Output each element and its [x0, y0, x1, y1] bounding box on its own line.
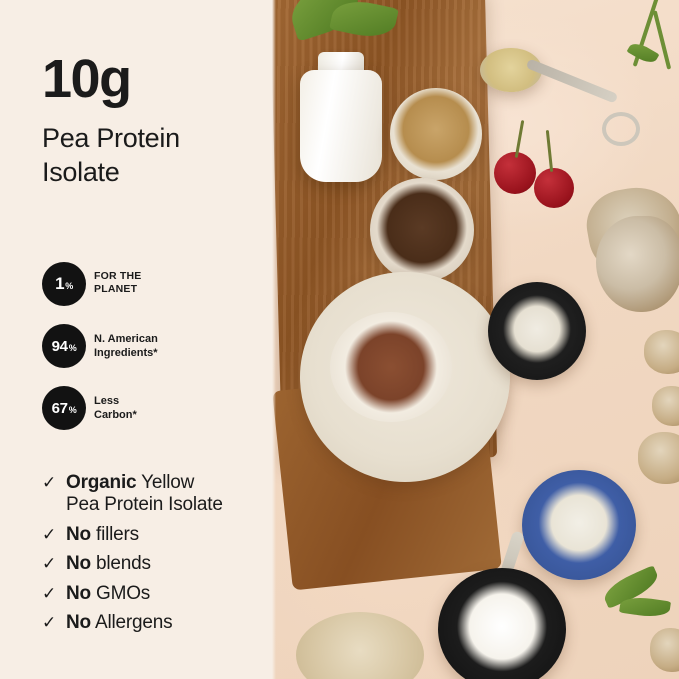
badge-north-american-ingredients: 94% N. American Ingredients*: [42, 324, 268, 378]
checklist-item-no-allergens: ✓ No Allergens: [42, 612, 274, 634]
badge-label-1-line1: FOR THE: [94, 270, 141, 282]
product-title: Pea Protein Isolate: [42, 122, 272, 190]
badge-label-2-line1: N. American: [94, 333, 158, 345]
badge-unit-2: %: [69, 343, 77, 353]
badge-one-percent-for-the-planet: 1% FOR THE PLANET: [42, 262, 268, 316]
badge-label-3-line2: Carbon*: [94, 409, 137, 421]
check-icon: ✓: [42, 473, 56, 493]
measuring-spoon-ring: [602, 112, 640, 146]
checklist-item-no-blends-bold: No: [66, 553, 91, 574]
checklist-item-no-allergens-bold: No: [66, 612, 91, 633]
feature-checklist: ✓ Organic Yellow Pea Protein Isolate ✓ N…: [42, 472, 274, 641]
badge-label-1-line2: PLANET: [94, 283, 137, 295]
badge-value-1: 1: [55, 274, 64, 294]
black-bowl-white-powder: [438, 568, 566, 679]
cacao-nibs-bowl: [370, 178, 474, 282]
checklist-item-organic: ✓ Organic Yellow Pea Protein Isolate: [42, 472, 274, 517]
cherry-left: [494, 152, 536, 194]
checklist-item-no-gmos: ✓ No GMOs: [42, 583, 274, 605]
checklist-item-no-fillers-rest: fillers: [91, 524, 139, 545]
checklist-item-no-allergens-rest: Allergens: [91, 612, 172, 633]
checklist-item-no-blends-rest: blends: [91, 553, 151, 574]
badge-less-carbon: 67% Less Carbon*: [42, 386, 268, 440]
checklist-item-no-gmos-rest: GMOs: [91, 583, 150, 604]
info-panel: 10g Pea Protein Isolate 1% FOR THE PLANE…: [0, 0, 272, 679]
badge-list: 1% FOR THE PLANET 94% N. American Ingred…: [42, 262, 268, 448]
check-icon: ✓: [42, 554, 56, 574]
checklist-item-no-blends: ✓ No blends: [42, 553, 274, 575]
cherry-right: [534, 168, 574, 208]
checklist-item-no-gmos-bold: No: [66, 583, 91, 604]
blue-bowl-crumbled: [522, 470, 636, 580]
badge-circle-3: 67%: [42, 386, 86, 430]
product-infographic: 10g Pea Protein Isolate 1% FOR THE PLANE…: [0, 0, 679, 679]
badge-label-3-line1: Less: [94, 395, 119, 407]
cocoa-powder-bowl: [330, 312, 452, 422]
ingredients-photo: [272, 0, 679, 679]
badge-label-1: FOR THE PLANET: [94, 270, 244, 296]
badge-unit-1: %: [65, 281, 73, 291]
milk-jar: [300, 70, 382, 182]
checklist-item-organic-line2: Pea Protein Isolate: [66, 494, 274, 516]
check-icon: ✓: [42, 525, 56, 545]
fig: [596, 216, 679, 312]
protein-amount: 10g: [42, 52, 131, 106]
checklist-item-organic-bold: Organic: [66, 472, 136, 493]
checklist-item-organic-rest: Yellow: [136, 472, 194, 493]
badge-value-3: 67: [52, 400, 68, 417]
black-bowl-crumbled: [488, 282, 586, 380]
badge-label-2: N. American Ingredients*: [94, 333, 244, 361]
badge-circle-1: 1%: [42, 262, 86, 306]
seeds-bowl: [390, 88, 482, 180]
badge-value-2: 94: [52, 338, 68, 355]
product-title-line2: Isolate: [42, 157, 119, 187]
badge-label-2-line2: Ingredients*: [94, 347, 158, 359]
checklist-item-no-fillers: ✓ No fillers: [42, 524, 274, 546]
badge-unit-3: %: [69, 405, 77, 415]
checklist-item-no-fillers-bold: No: [66, 524, 91, 545]
badge-circle-2: 94%: [42, 324, 86, 368]
check-icon: ✓: [42, 584, 56, 604]
check-icon: ✓: [42, 613, 56, 633]
badge-label-3: Less Carbon*: [94, 395, 244, 423]
product-title-line1: Pea Protein: [42, 123, 180, 153]
